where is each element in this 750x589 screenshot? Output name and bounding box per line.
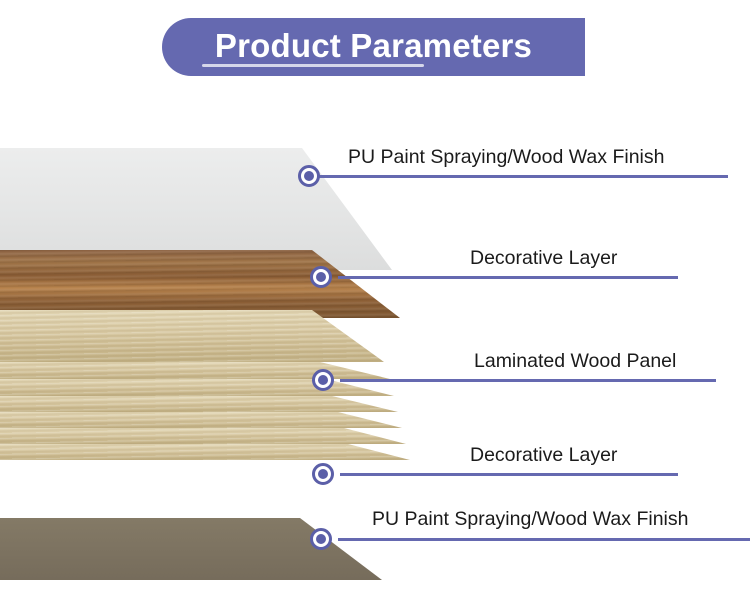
callout-label: Decorative Layer [470, 247, 617, 270]
bullet-dot-icon [298, 165, 320, 187]
layer-decorative-bottom [0, 455, 402, 521]
callout-leader-line [316, 175, 728, 178]
bullet-dot-icon [312, 463, 334, 485]
callout-leader-line [340, 379, 716, 382]
ply-sheet [0, 379, 394, 396]
title-underline-accent [202, 64, 424, 67]
callout-leader-line [340, 473, 678, 476]
ply-sheet [0, 428, 406, 444]
ply-sheet [0, 412, 402, 428]
ply-sheet [0, 396, 398, 412]
bullet-dot-icon [312, 369, 334, 391]
bullet-dot-icon [310, 528, 332, 550]
callout-leader-line [338, 276, 678, 279]
page-title: Product Parameters [162, 18, 585, 76]
callout-leader-line [338, 538, 750, 541]
title-banner: Product Parameters [162, 18, 585, 76]
layer-stack-illustration [0, 110, 430, 580]
callout-label: Decorative Layer [470, 444, 617, 467]
bullet-dot-icon [310, 266, 332, 288]
ply-sheet [0, 310, 384, 362]
callout-label: Laminated Wood Panel [474, 350, 676, 373]
callout-label: PU Paint Spraying/Wood Wax Finish [372, 508, 688, 531]
product-parameters-infographic: Product Parameters PU Paint Spraying/Woo… [0, 0, 750, 589]
layer-laminated-core [0, 310, 410, 460]
callout-label: PU Paint Spraying/Wood Wax Finish [348, 146, 664, 169]
